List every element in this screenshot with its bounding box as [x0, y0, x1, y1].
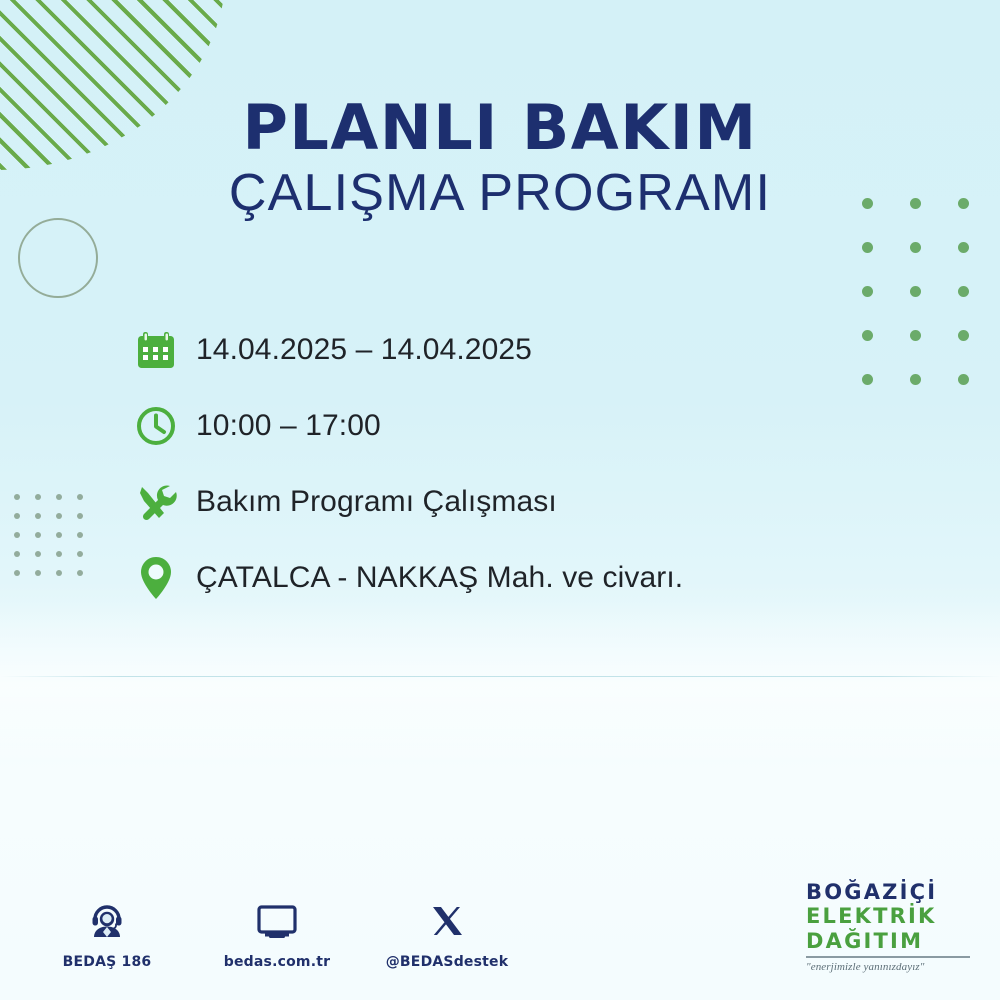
brand-line-1: BOĞAZİÇİ [806, 880, 978, 904]
contact-phone[interactable]: BEDAŞ 186 [48, 898, 166, 970]
brand-logo: BOĞAZİÇİ ELEKTRİK DAĞITIM "enerjimizle y… [806, 880, 978, 973]
x-twitter-icon [427, 898, 467, 948]
planned-maintenance-poster: PLANLI BAKIM ÇALIŞMA PROGRAMI [0, 0, 1000, 1000]
dot-grid-decoration-left [14, 494, 98, 589]
calendar-icon [134, 323, 196, 377]
location-text: ÇATALCA - NAKKAŞ Mah. ve civarı. [196, 561, 683, 595]
list-item-location: ÇATALCA - NAKKAŞ Mah. ve civarı. [134, 540, 894, 616]
footer-contacts: BEDAŞ 186 bedas.com.tr @BEDASdestek [48, 898, 506, 970]
location-pin-icon [134, 551, 196, 605]
brand-tagline: "enerjimizle yanınızdayız" [806, 961, 978, 973]
tools-icon [134, 475, 196, 529]
brand-line-2: ELEKTRİK [806, 904, 978, 928]
contact-phone-label: BEDAŞ 186 [63, 954, 152, 970]
contact-website-label: bedas.com.tr [224, 954, 330, 970]
maintenance-details-list: 14.04.2025 – 14.04.2025 10:00 – 17:00 Ba… [134, 312, 894, 616]
background-sheen [0, 600, 1000, 760]
work-type-text: Bakım Programı Çalışması [196, 485, 557, 519]
contact-website[interactable]: bedas.com.tr [218, 898, 336, 970]
circle-outline-decoration [18, 218, 98, 298]
time-range-text: 10:00 – 17:00 [196, 409, 381, 443]
brand-rule [806, 956, 970, 958]
title-main-line: PLANLI BAKIM [0, 96, 1000, 159]
support-agent-icon [86, 898, 128, 948]
list-item-time: 10:00 – 17:00 [134, 388, 894, 464]
contact-social-label: @BEDASdestek [386, 954, 509, 970]
contact-social[interactable]: @BEDASdestek [388, 898, 506, 970]
list-item-date: 14.04.2025 – 14.04.2025 [134, 312, 894, 388]
date-range-text: 14.04.2025 – 14.04.2025 [196, 333, 532, 367]
list-item-work-type: Bakım Programı Çalışması [134, 464, 894, 540]
monitor-icon [254, 898, 300, 948]
clock-icon [134, 399, 196, 453]
brand-line-3: DAĞITIM [806, 929, 978, 953]
title-sub-line: ÇALIŞMA PROGRAMI [0, 163, 1000, 224]
page-title: PLANLI BAKIM ÇALIŞMA PROGRAMI [0, 96, 1000, 225]
horizontal-divider [0, 676, 1000, 677]
